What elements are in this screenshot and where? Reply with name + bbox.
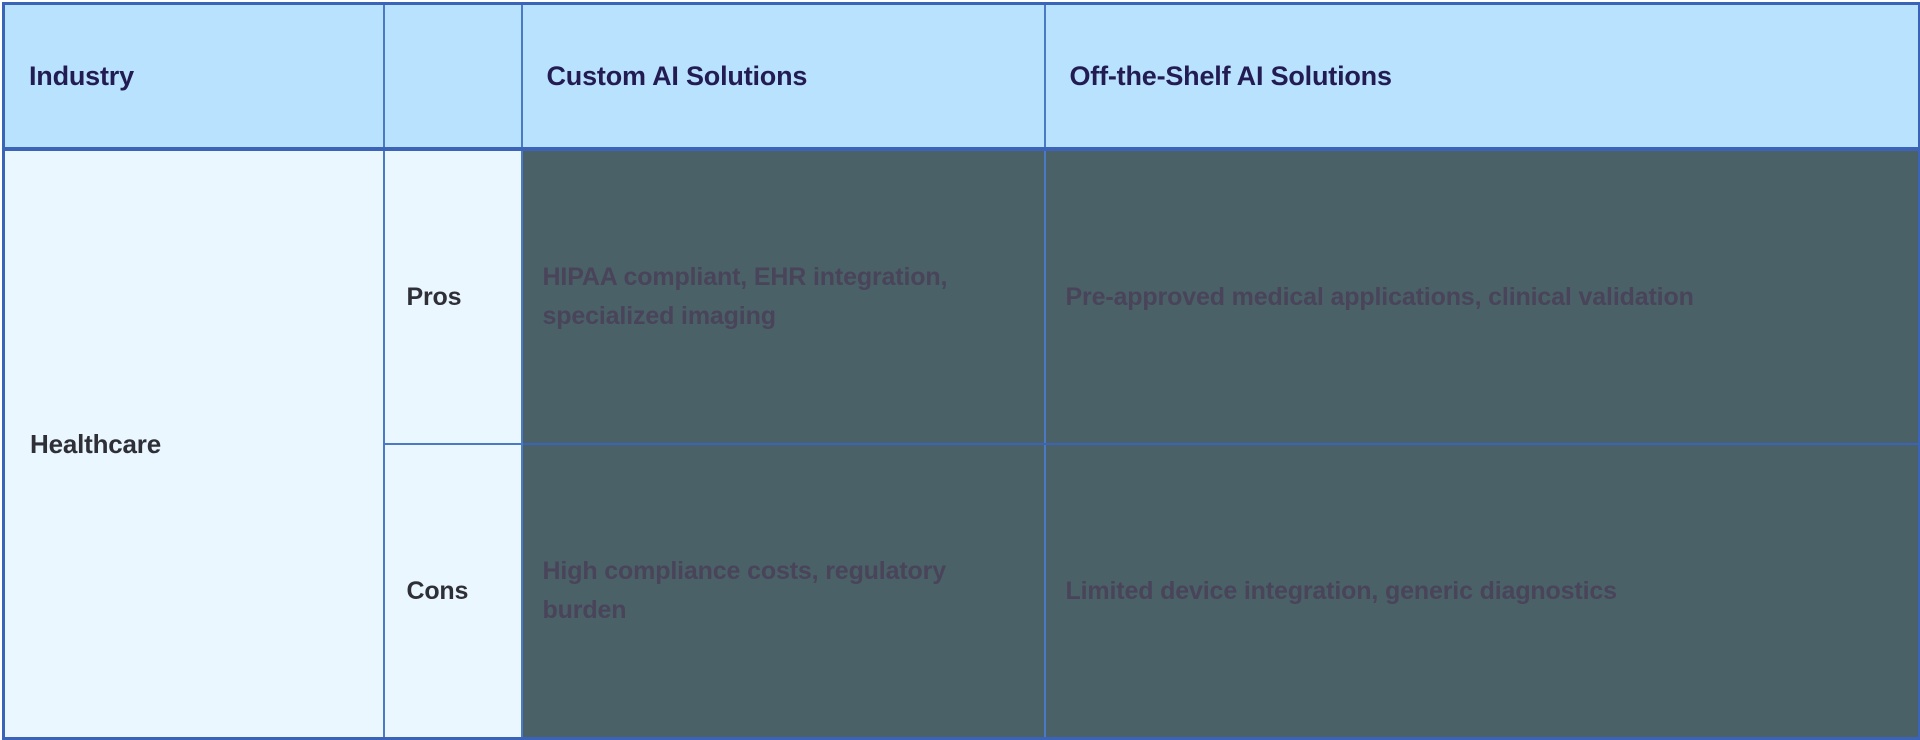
column-header-custom-ai: Custom AI Solutions (522, 4, 1045, 150)
off-the-shelf-cons-cell: Limited device integration, generic diag… (1045, 444, 1920, 739)
table-header-row: Industry Custom AI Solutions Off-the-She… (4, 4, 1920, 150)
aspect-label-cons: Cons (384, 444, 522, 739)
column-header-industry: Industry (4, 4, 384, 150)
column-header-aspect (384, 4, 522, 150)
custom-ai-cons-cell: High compliance costs, regulatory burden (522, 444, 1045, 739)
comparison-table-container: Industry Custom AI Solutions Off-the-She… (0, 0, 1920, 737)
table-row: Healthcare Pros HIPAA compliant, EHR int… (4, 149, 1920, 444)
table-body: Healthcare Pros HIPAA compliant, EHR int… (4, 149, 1920, 739)
custom-ai-pros-text: HIPAA compliant, EHR integration, specia… (543, 258, 1022, 336)
off-the-shelf-cons-text: Limited device integration, generic diag… (1066, 572, 1897, 611)
column-header-off-the-shelf-ai: Off-the-Shelf AI Solutions (1045, 4, 1920, 150)
custom-ai-cons-text: High compliance costs, regulatory burden (543, 552, 1022, 630)
off-the-shelf-pros-cell: Pre-approved medical applications, clini… (1045, 149, 1920, 444)
ai-solutions-comparison-table: Industry Custom AI Solutions Off-the-She… (2, 2, 1920, 740)
aspect-label-pros: Pros (384, 149, 522, 444)
table-header: Industry Custom AI Solutions Off-the-She… (4, 4, 1920, 150)
off-the-shelf-pros-text: Pre-approved medical applications, clini… (1066, 278, 1897, 317)
custom-ai-pros-cell: HIPAA compliant, EHR integration, specia… (522, 149, 1045, 444)
industry-name-cell: Healthcare (4, 149, 384, 739)
